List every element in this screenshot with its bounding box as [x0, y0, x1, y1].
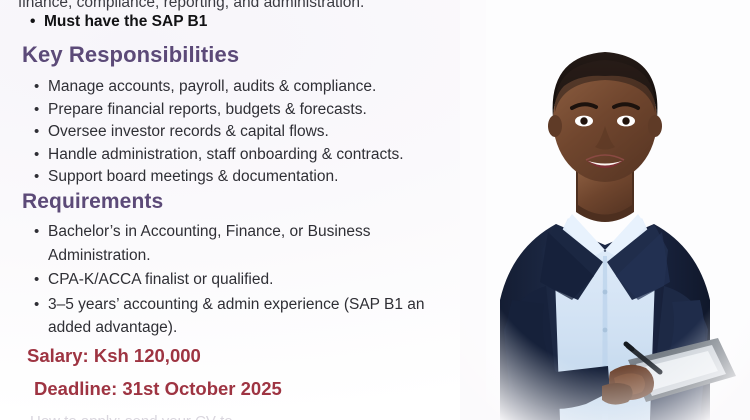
professional-woman-illustration — [460, 0, 750, 420]
bullet-icon: • — [30, 12, 44, 32]
text-column: finance, compliance, reporting, and admi… — [0, 0, 470, 420]
sap-requirement-label: Must have the SAP B1 — [44, 13, 207, 30]
responsibilities-heading: Key Responsibilities — [22, 42, 239, 68]
list-item: Bachelor’s in Accounting, Finance, or Bu… — [34, 220, 454, 267]
list-item: 3–5 years’ accounting & admin experience… — [34, 293, 454, 340]
salary-text: Salary: Ksh 120,000 — [27, 345, 201, 367]
list-item: Support board meetings & documentation. — [34, 166, 454, 189]
requirements-heading: Requirements — [22, 190, 163, 214]
deadline-text: Deadline: 31st October 2025 — [34, 378, 282, 400]
list-item: Handle administration, staff onboarding … — [34, 144, 454, 167]
list-item: Manage accounts, payroll, audits & compl… — [34, 76, 454, 99]
bottom-clipped-line: How to apply: send your CV to — [30, 412, 233, 420]
list-item: Prepare financial reports, budgets & for… — [34, 99, 454, 122]
list-item: CPA-K/ACCA finalist or qualified. — [34, 268, 454, 292]
list-item: Oversee investor records & capital flows… — [34, 121, 454, 144]
requirements-list: Bachelor’s in Accounting, Finance, or Bu… — [34, 220, 454, 341]
candidate-photo — [460, 0, 750, 420]
sap-requirement-item: •Must have the SAP B1 — [44, 12, 207, 32]
job-poster: finance, compliance, reporting, and admi… — [0, 0, 750, 420]
responsibilities-list: Manage accounts, payroll, audits & compl… — [34, 76, 454, 189]
